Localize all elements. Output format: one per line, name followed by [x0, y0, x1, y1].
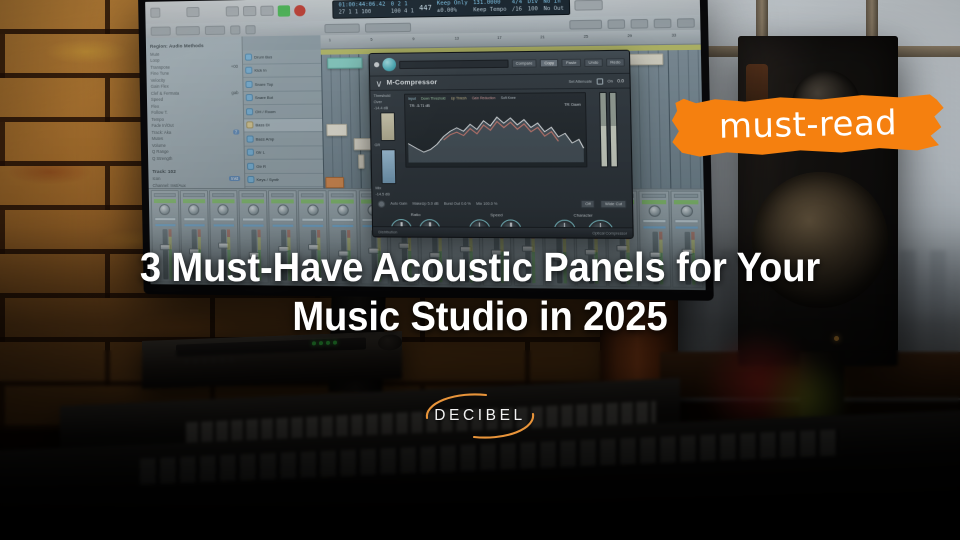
plugin-tab-compare[interactable]: Compare	[511, 59, 537, 68]
forward-button[interactable]	[243, 6, 256, 16]
track-name: Bass Amp	[256, 136, 275, 141]
auto-gain-label: Auto Gain	[390, 202, 407, 206]
graph-legend-gain-reduction: Gain Reduction	[472, 96, 496, 100]
lcd-meter: ±0.00%	[437, 7, 468, 15]
ruler-tick: 29	[627, 34, 631, 38]
inspector-label: Fade In/Out	[151, 123, 173, 128]
decibel-logo[interactable]: DECIBEL	[420, 388, 540, 444]
browsers-button[interactable]	[677, 18, 695, 28]
gain-reduction-label: GR	[375, 143, 402, 147]
track-row[interactable]: Gtr R	[245, 160, 323, 174]
graph-legend-up-thresh: Up Thresh	[451, 96, 467, 100]
inspector-row[interactable]: Q Strength	[152, 155, 240, 162]
track-row[interactable]: OH / Room	[244, 105, 322, 119]
lcd-keep-tempo: Keep Tempo	[473, 7, 507, 15]
plugin-header[interactable]: Compare Copy Paste Undo Redo	[370, 51, 630, 77]
inspector-toggle-icon[interactable]	[150, 8, 160, 18]
headline-line-1: 3 Must-Have Acoustic Panels for Your	[76, 243, 883, 292]
interface-ports	[184, 357, 234, 364]
inspector-value: +00	[231, 64, 238, 69]
ruler-tick: 1	[329, 38, 331, 42]
notes-button[interactable]	[630, 18, 648, 28]
inspector-value: 7	[233, 129, 240, 134]
track-name: Snare Top	[255, 81, 274, 86]
functions-menu-button[interactable]	[176, 26, 200, 35]
auto-gain-toggle[interactable]	[378, 200, 385, 207]
track-name: Bass DI	[255, 122, 269, 127]
inspector-label: Flex	[151, 104, 159, 109]
inspector-label: Q Range	[152, 149, 169, 154]
output-meter-right	[609, 92, 618, 168]
lcd-out: 447	[419, 4, 432, 11]
threshold-over-value: -14.4 dB	[374, 106, 401, 110]
blog-hero-card: 01:00:44:06.42 27 1 1 100 0 2 1 100 4 1 …	[0, 0, 960, 540]
loops-button[interactable]	[654, 18, 672, 28]
record-button[interactable]	[294, 5, 306, 16]
threshold-meter[interactable]	[380, 112, 395, 141]
wide-cut-button[interactable]: Wide Cut	[601, 200, 627, 208]
track-row[interactable]: Drum Bus	[243, 50, 321, 65]
logo-wordmark: DECIBEL	[420, 407, 540, 425]
track-name: Keys / Synth	[256, 177, 279, 182]
track-row[interactable]: Keys / Synth	[245, 173, 323, 187]
inspector-label: Gain Flex	[151, 84, 169, 89]
plugin-tab-paste[interactable]: Paste	[561, 58, 580, 67]
lcd-div-value: /16	[512, 6, 523, 13]
plugin-preset-field[interactable]	[399, 59, 508, 69]
inspector-label: Icon	[152, 176, 160, 181]
inspector-value: Inst	[229, 176, 240, 181]
compressor-waveform	[405, 108, 586, 163]
track-row[interactable]: Gtr L	[245, 146, 323, 160]
track-name: Drum Bus	[254, 54, 272, 59]
graph-value-left: TR: -5.71 dB	[409, 104, 429, 108]
ruler-tick: 25	[584, 35, 588, 39]
badge-label: must-read	[685, 106, 932, 145]
inspector-label: Tempo	[151, 117, 164, 122]
track-name: Gtr R	[256, 164, 266, 169]
plugin-analyzer-label: Set Attenuate	[569, 79, 593, 83]
rewind-button[interactable]	[226, 6, 239, 16]
stop-button[interactable]	[260, 6, 273, 16]
inspector-label: Mutes	[152, 136, 163, 141]
track-row[interactable]: Kick In	[243, 63, 321, 78]
plugin-tab-redo[interactable]: Redo	[606, 58, 625, 67]
knob-group-label: Ratio	[391, 212, 441, 217]
play-button[interactable]	[278, 5, 291, 16]
output-meter-left	[599, 92, 608, 168]
track-row[interactable]: Bass Amp	[244, 132, 322, 146]
burst-out-value[interactable]: Burst Out 0.6 %	[444, 202, 471, 206]
graph-legend-soft-knee: Soft Knee	[501, 96, 516, 100]
inspector-label: Fine Tune	[150, 71, 169, 76]
track-name: Gtr L	[256, 150, 265, 155]
compressor-plugin-window[interactable]: Compare Copy Paste Undo Redo ∨ M-Compres…	[369, 50, 634, 239]
track-row-selected[interactable]: Bass DI	[244, 118, 322, 132]
plugin-footer-right: Optical Compressor	[592, 231, 627, 235]
inspector-label: Clef & Fermata	[151, 90, 179, 95]
track-row[interactable]: Snare Bot	[244, 91, 322, 105]
mix-label: Mix	[375, 186, 402, 190]
ruler-tick: 5	[370, 38, 372, 42]
ruler-tick: 21	[540, 35, 544, 39]
knob-group-label: Speed	[469, 212, 525, 217]
inspector-label: Track: Aka	[152, 130, 172, 135]
plugin-name: M-Compressor	[386, 79, 437, 87]
plugin-body: Threshold Over -14.4 dB GR Mix -14.5 dB …	[370, 89, 632, 200]
plugin-on-label[interactable]: On	[607, 79, 613, 83]
pointer-tool-icon[interactable]	[230, 25, 240, 34]
plugin-tab-copy[interactable]: Copy	[540, 58, 558, 67]
threshold-column[interactable]: Threshold Over -14.4 dB GR Mix -14.5 dB	[374, 94, 403, 197]
ruler-tick: 9	[412, 37, 414, 41]
lcd-div-out: No Out	[544, 6, 564, 14]
library-toggle-icon[interactable]	[186, 7, 199, 17]
mix-value: -14.5 dB	[375, 192, 402, 196]
mix-percent-value[interactable]: Mix 100.0 %	[476, 202, 497, 206]
daw-track-list[interactable]: Drum Bus Kick In Snare Top Snare Bot OH …	[243, 50, 324, 189]
transport-lcd[interactable]: 01:00:44:06.42 27 1 1 100 0 2 1 100 4 1 …	[332, 0, 570, 19]
limiter-off-button[interactable]: Off	[581, 200, 595, 208]
inspector-track-title: Track: 102	[152, 168, 240, 173]
page-title: 3 Must-Have Acoustic Panels for Your Mus…	[34, 243, 927, 341]
inspector-label: Loop	[150, 58, 159, 63]
ruler-tick: 13	[455, 36, 459, 40]
threshold-section-label: Threshold	[374, 94, 401, 98]
threshold-over-label: Over	[374, 100, 401, 104]
inspector-label: Q Strength	[152, 156, 172, 161]
drag-selector[interactable]	[365, 22, 411, 32]
ruler-tick: 33	[672, 33, 677, 37]
track-name: OH / Room	[255, 109, 276, 114]
inspector-label: Velocity	[151, 77, 166, 82]
inspector-value: gab	[231, 90, 238, 95]
inspector-title: Region: Audio Methods	[150, 43, 238, 49]
graph-legend-down-threshold: Down Threshold	[421, 96, 446, 100]
inspector-label: Follow T.	[151, 110, 168, 115]
master-volume-slider[interactable]	[575, 0, 604, 11]
plugin-analyzer-checkbox[interactable]	[596, 78, 603, 84]
plugin-tab-undo[interactable]: Undo	[584, 58, 603, 67]
compressor-curve-icon: ∨	[375, 80, 382, 86]
makeup-value[interactable]: MakeUp 5.0 dB	[412, 202, 438, 206]
headline-line-2: Music Studio in 2025	[76, 292, 883, 341]
lcd-sub: 100 4 1	[391, 8, 414, 16]
graph-legend-input: Input	[408, 97, 416, 101]
inspector-label: Speed	[151, 97, 163, 102]
scissors-tool-icon[interactable]	[245, 25, 255, 34]
plugin-gain-value[interactable]: 0.0	[617, 78, 624, 83]
list-editors-button[interactable]	[607, 19, 625, 29]
knob-group-label: Character	[553, 212, 613, 217]
output-meters[interactable]	[589, 92, 628, 197]
plugin-power-icon[interactable]	[382, 58, 396, 71]
ruler-tick: 17	[497, 36, 501, 40]
inspector-label: Volume	[152, 143, 166, 148]
track-row[interactable]: Snare Top	[243, 77, 321, 91]
compressor-graph[interactable]: Input Down Threshold Up Thresh Gain Redu…	[404, 92, 587, 168]
gain-reduction-meter[interactable]	[381, 149, 396, 184]
inspector-label: Transpose	[150, 64, 170, 69]
plugin-close-icon[interactable]	[374, 62, 379, 67]
plugin-footer-left: Distribution	[378, 230, 397, 234]
edit-menu-button[interactable]	[151, 26, 171, 35]
plugin-footer: Distribution Optical Compressor	[373, 226, 633, 238]
zoom-control[interactable]	[569, 19, 602, 29]
snap-selector[interactable]	[324, 23, 359, 33]
inspector-label: Mute	[150, 51, 159, 56]
lcd-extra: 100	[528, 6, 539, 13]
track-name: Kick In	[254, 68, 266, 73]
must-read-badge[interactable]: must-read	[671, 92, 944, 157]
track-name: Snare Bot	[255, 95, 273, 100]
view-menu-button[interactable]	[205, 25, 225, 34]
graph-value-right: TR: Down	[564, 103, 580, 107]
lcd-position-secondary: 27 1 1 100	[339, 9, 386, 17]
